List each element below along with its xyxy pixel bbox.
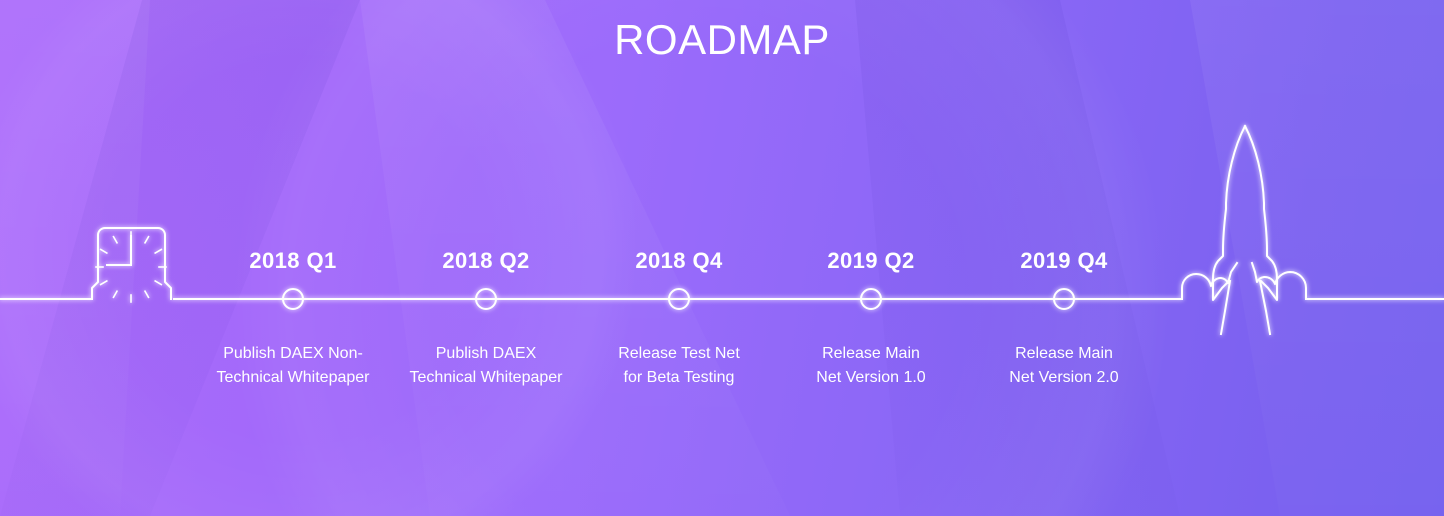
milestone-description-line: Release Test Net [574,342,784,366]
milestone-description-line: Publish DAEX [381,342,591,366]
milestone-description: Publish DAEX Technical Whitepaper [381,342,591,390]
milestone-description: Release Test Net for Beta Testing [574,342,784,390]
milestone-period: 2019 Q4 [959,247,1169,275]
milestone-period: 2018 Q4 [574,247,784,275]
milestone-description: Publish DAEX Non- Technical Whitepaper [188,342,398,390]
milestone-description: Release Main Net Version 1.0 [766,342,976,390]
milestone-description-line: Technical Whitepaper [188,366,398,390]
milestone-period: 2018 Q2 [381,247,591,275]
milestone-description: Release Main Net Version 2.0 [959,342,1169,390]
milestone-description-line: Technical Whitepaper [381,366,591,390]
milestone-description-line: Net Version 2.0 [959,366,1169,390]
milestone-description-line: Publish DAEX Non- [188,342,398,366]
milestone-description-line: Release Main [766,342,976,366]
milestone-description-line: for Beta Testing [574,366,784,390]
milestone-period: 2019 Q2 [766,247,976,275]
milestone-period: 2018 Q1 [188,247,398,275]
roadmap-banner: ROADMAP [0,0,1444,516]
milestone-description-line: Release Main [959,342,1169,366]
milestone-list: 2018 Q1 Publish DAEX Non- Technical Whit… [0,0,1444,516]
milestone-description-line: Net Version 1.0 [766,366,976,390]
